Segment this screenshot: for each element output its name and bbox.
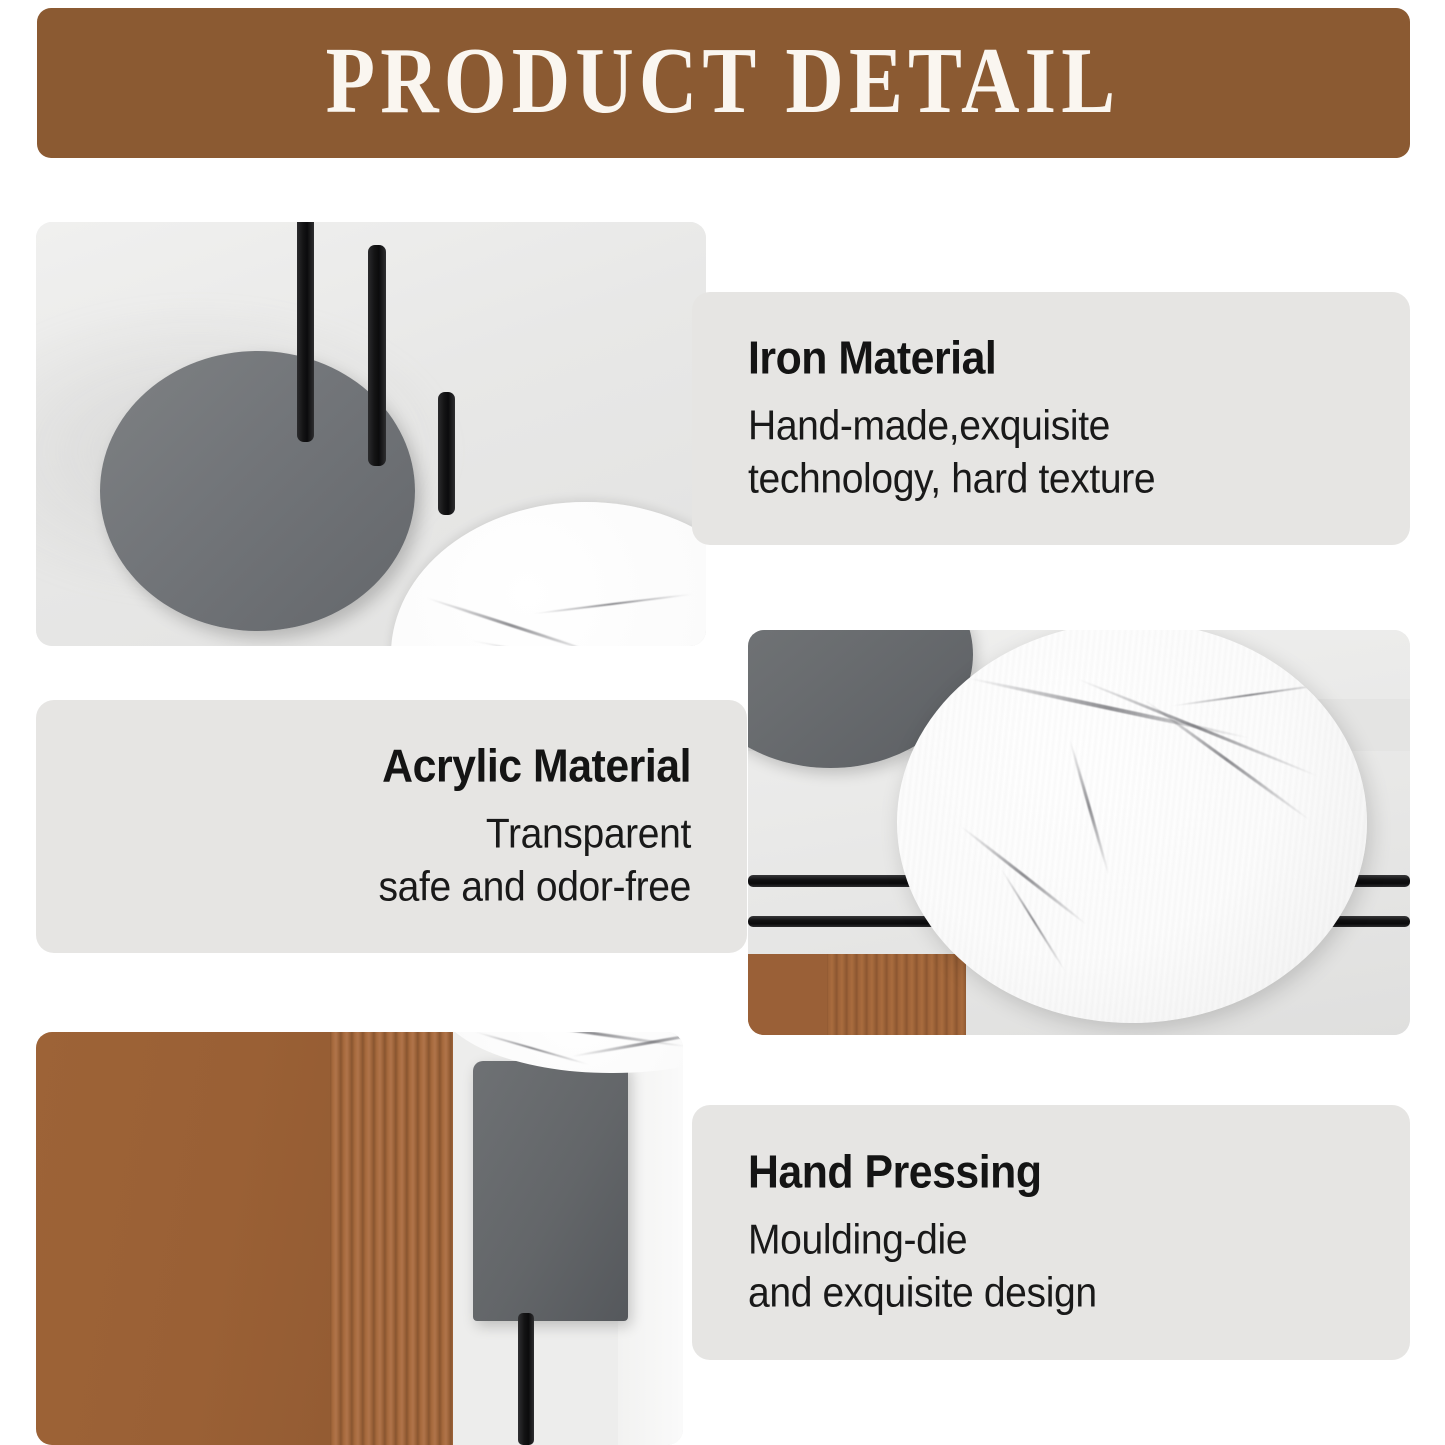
grey-pressed-plate bbox=[473, 1061, 628, 1321]
brown-flat-panel bbox=[748, 954, 827, 1035]
page-title: PRODUCT DETAIL bbox=[326, 34, 1121, 128]
feature-title-iron-material: Iron Material bbox=[748, 332, 1312, 384]
feature-photo-iron-material bbox=[36, 222, 706, 646]
feature-body-iron-material: Hand-made,exquisite technology, hard tex… bbox=[748, 399, 1312, 505]
brown-fluted-panel bbox=[330, 1032, 453, 1445]
marble-vein bbox=[426, 596, 597, 646]
marble-disc-shape bbox=[897, 630, 1367, 1023]
feature-text-block: Hand Pressing Moulding-die and exquisite… bbox=[748, 1146, 1354, 1319]
product-detail-page: PRODUCT DETAIL Iron Material Hand-made,e… bbox=[0, 0, 1445, 1445]
marble-vein bbox=[471, 639, 693, 646]
marble-vein bbox=[531, 593, 693, 615]
feature-body-acrylic-material: Transparent safe and odor-free bbox=[134, 807, 691, 913]
feature-text-block: Iron Material Hand-made,exquisite techno… bbox=[748, 332, 1354, 505]
feature-title-acrylic-material: Acrylic Material bbox=[134, 740, 691, 792]
feature-title-hand-pressing: Hand Pressing bbox=[748, 1146, 1312, 1198]
iron-rod-short bbox=[438, 392, 455, 515]
feature-card-iron-material: Iron Material Hand-made,exquisite techno… bbox=[692, 292, 1410, 545]
marble-sheen bbox=[897, 630, 1367, 1023]
iron-rod-vertical bbox=[518, 1313, 534, 1445]
feature-photo-hand-pressing bbox=[36, 1032, 683, 1445]
feature-photo-acrylic-material bbox=[748, 630, 1410, 1035]
iron-rod-medium bbox=[368, 245, 386, 465]
feature-card-hand-pressing: Hand Pressing Moulding-die and exquisite… bbox=[692, 1105, 1410, 1360]
white-wall-strip bbox=[618, 1032, 683, 1445]
feature-card-acrylic-material: Acrylic Material Transparent safe and od… bbox=[36, 700, 747, 953]
feature-text-block: Acrylic Material Transparent safe and od… bbox=[92, 740, 691, 913]
page-header-banner: PRODUCT DETAIL bbox=[37, 8, 1410, 158]
brown-flat-panel bbox=[36, 1032, 330, 1445]
iron-rod-tall bbox=[297, 222, 314, 442]
feature-body-hand-pressing: Moulding-die and exquisite design bbox=[748, 1213, 1312, 1319]
